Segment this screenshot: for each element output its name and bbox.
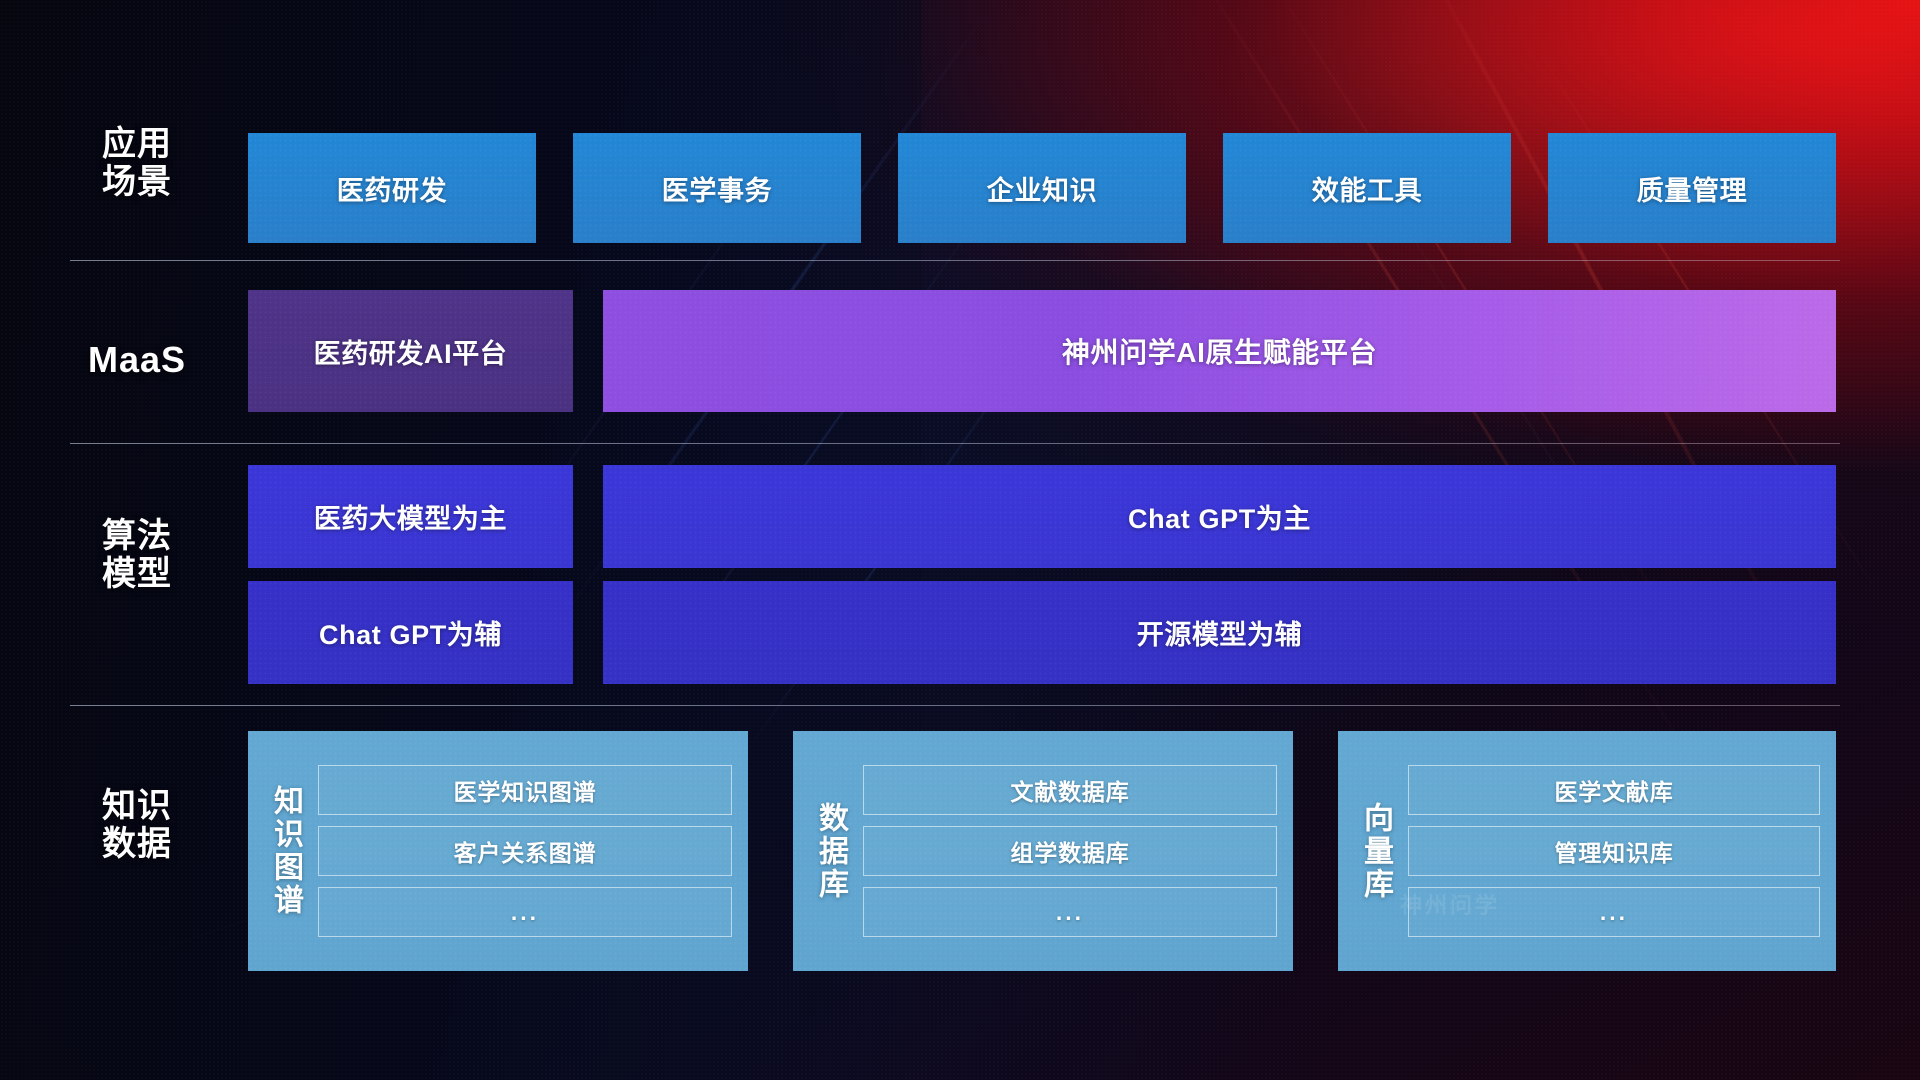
knowledge-item[interactable]: 医学文献库 — [1408, 765, 1820, 815]
app-cell-medical-affairs[interactable]: 医学事务 — [573, 133, 861, 243]
maas-main-label: 神州问学AI原生赋能平台 — [1062, 331, 1377, 371]
knowledge-item[interactable]: 医学知识图谱 — [318, 765, 732, 815]
tier-label-knowledge-data: 知识 数据 — [72, 787, 202, 863]
knowledge-panel-knowledge-graph[interactable]: 知识图谱 医学知识图谱 客户关系图谱 ... — [248, 731, 748, 971]
tier-label-maas: MaaS — [62, 340, 212, 380]
knowledge-panel-title: 向量库 — [1360, 751, 1390, 951]
knowledge-item[interactable]: 客户关系图谱 — [318, 826, 732, 876]
divider-algorithm-knowledge — [70, 705, 1840, 706]
tier-label-line-2: 数据 — [72, 825, 202, 863]
tier-label-algorithm-models: 算法 模型 — [72, 517, 202, 593]
algo-cell-label: Chat GPT为辅 — [319, 613, 502, 652]
knowledge-panel-vector-store[interactable]: 向量库 医学文献库 管理知识库 ... — [1338, 731, 1836, 971]
algo-cell-chatgpt-primary[interactable]: Chat GPT为主 — [603, 465, 1836, 568]
architecture-diagram: 应用 场景 医药研发 医学事务 企业知识 效能工具 质量管理 MaaS 医药研发… — [0, 0, 1920, 1080]
app-cell-label: 医药研发 — [337, 169, 447, 208]
knowledge-panel-database[interactable]: 数据库 文献数据库 组学数据库 ... — [793, 731, 1293, 971]
app-cell-label: 质量管理 — [1637, 169, 1747, 208]
algo-cell-opensource-secondary[interactable]: 开源模型为辅 — [603, 581, 1836, 684]
app-cell-efficiency-tools[interactable]: 效能工具 — [1223, 133, 1511, 243]
app-cell-quality-management[interactable]: 质量管理 — [1548, 133, 1836, 243]
divider-application-maas — [70, 260, 1840, 261]
tier-label-line-1: 应用 — [72, 125, 202, 163]
knowledge-panel-title: 知识图谱 — [270, 751, 300, 951]
tier-label-application-scenarios: 应用 场景 — [72, 125, 202, 201]
algo-cell-label: 医药大模型为主 — [314, 497, 507, 536]
knowledge-item[interactable]: 文献数据库 — [863, 765, 1277, 815]
algo-cell-chatgpt-secondary[interactable]: Chat GPT为辅 — [248, 581, 573, 684]
tier-label-line-1: 算法 — [72, 517, 202, 555]
tier-label-line-2: 模型 — [72, 555, 202, 593]
knowledge-panel-items: 医学知识图谱 客户关系图谱 ... — [318, 765, 732, 937]
app-cell-label: 企业知识 — [987, 169, 1097, 208]
maas-cell-medicine-ai-platform[interactable]: 医药研发AI平台 — [248, 290, 573, 412]
tier-label-line-1: 知识 — [72, 787, 202, 825]
app-cell-label: 效能工具 — [1312, 169, 1422, 208]
tier-label-line-2: 场景 — [72, 163, 202, 201]
maas-left-label: 医药研发AI平台 — [314, 332, 508, 371]
knowledge-panel-items: 文献数据库 组学数据库 ... — [863, 765, 1277, 937]
knowledge-panel-items: 医学文献库 管理知识库 ... — [1408, 765, 1820, 937]
app-cell-label: 医学事务 — [662, 169, 772, 208]
knowledge-item-more[interactable]: ... — [318, 887, 732, 937]
knowledge-item[interactable]: 管理知识库 — [1408, 826, 1820, 876]
tier-label-line-1: MaaS — [62, 340, 212, 380]
knowledge-item-more[interactable]: ... — [1408, 887, 1820, 937]
knowledge-item-more[interactable]: ... — [863, 887, 1277, 937]
algo-cell-label: 开源模型为辅 — [1137, 613, 1303, 652]
app-cell-medicine-rnd[interactable]: 医药研发 — [248, 133, 536, 243]
knowledge-item[interactable]: 组学数据库 — [863, 826, 1277, 876]
algo-cell-medicine-llm-primary[interactable]: 医药大模型为主 — [248, 465, 573, 568]
maas-cell-shenzhou-wenxue-platform[interactable]: 神州问学AI原生赋能平台 — [603, 290, 1836, 412]
algo-cell-label: Chat GPT为主 — [1128, 497, 1311, 536]
divider-maas-algorithm — [70, 443, 1840, 444]
knowledge-panel-title: 数据库 — [815, 751, 845, 951]
app-cell-enterprise-knowledge[interactable]: 企业知识 — [898, 133, 1186, 243]
